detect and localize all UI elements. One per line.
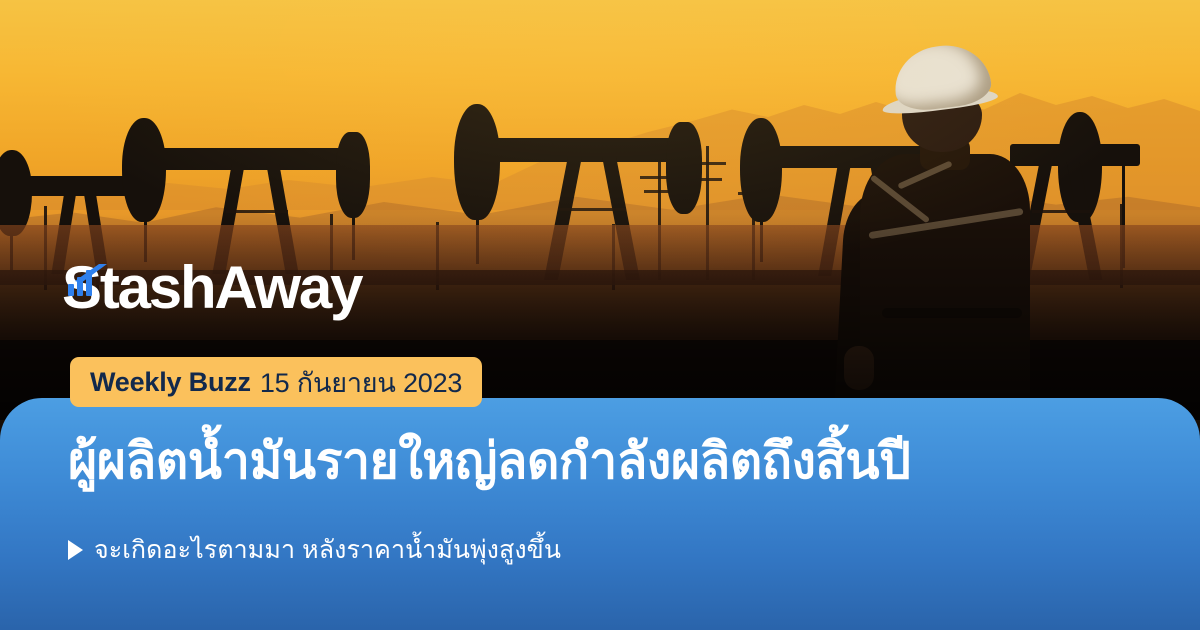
weekly-buzz-badge: Weekly Buzz 15 กันยายน 2023: [70, 357, 482, 407]
article-subheading: จะเกิดอะไรตามมา หลังราคาน้ำมันพุ่งสูงขึ้…: [68, 530, 561, 570]
badge-label: Weekly Buzz: [90, 367, 251, 398]
play-triangle-icon: [68, 540, 83, 560]
badge-date: 15 กันยายน 2023: [260, 361, 462, 404]
stashaway-wordmark: StashAway: [62, 258, 361, 318]
article-headline: ผู้ผลิตน้ำมันรายใหญ่ลดกำลังผลิตถึงสิ้นปี: [68, 432, 1148, 491]
weekly-buzz-banner: StashAway Weekly Buzz 15 กันยายน 2023 ผู…: [0, 0, 1200, 630]
subheading-text: จะเกิดอะไรตามมา หลังราคาน้ำมันพุ่งสูงขึ้…: [94, 530, 561, 570]
stashaway-logo[interactable]: StashAway: [62, 258, 361, 318]
